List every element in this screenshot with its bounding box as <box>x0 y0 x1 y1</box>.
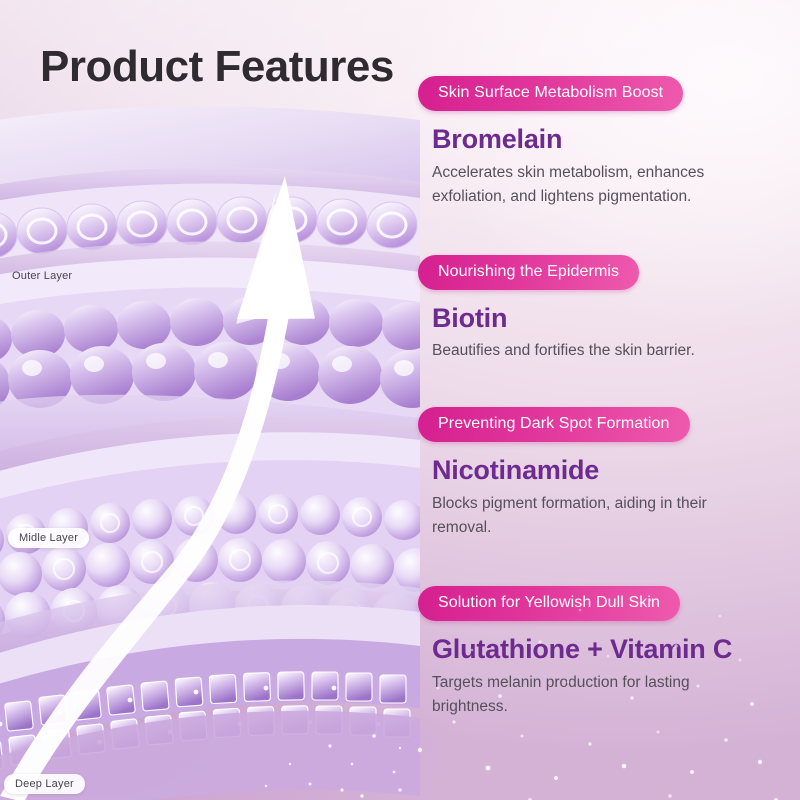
feature-item: Nourishing the Epidermis Biotin Beautifi… <box>418 255 782 364</box>
feature-badge: Skin Surface Metabolism Boost <box>418 76 683 111</box>
feature-description: Beautifies and fortifies the skin barrie… <box>432 339 750 363</box>
feature-badge: Solution for Yellowish Dull Skin <box>418 586 680 621</box>
feature-ingredient-name: Bromelain <box>432 125 782 155</box>
feature-description: Accelerates skin metabolism, enhances ex… <box>432 161 750 209</box>
feature-description: Targets melanin production for lasting b… <box>432 671 750 719</box>
skin-cross-section-illustration: Outer Layer Midle Layer Deep Layer <box>0 96 410 800</box>
feature-ingredient-name: Glutathione + Vitamin C <box>432 635 782 665</box>
product-features-poster: Product Features <box>0 0 800 800</box>
page-title: Product Features <box>40 44 394 90</box>
feature-badge: Nourishing the Epidermis <box>418 255 639 290</box>
feature-item: Skin Surface Metabolism Boost Bromelain … <box>418 76 782 209</box>
features-list: Skin Surface Metabolism Boost Bromelain … <box>418 76 782 719</box>
feature-item: Preventing Dark Spot Formation Nicotinam… <box>418 407 782 540</box>
layer-label-deep: Deep Layer <box>4 774 85 794</box>
skin-layers-svg <box>0 96 420 800</box>
layer-label-outer: Outer Layer <box>10 266 74 286</box>
layer-label-midle: Midle Layer <box>8 528 89 548</box>
feature-ingredient-name: Nicotinamide <box>432 456 782 486</box>
feature-description: Blocks pigment formation, aiding in thei… <box>432 492 750 540</box>
feature-ingredient-name: Biotin <box>432 304 782 334</box>
feature-item: Solution for Yellowish Dull Skin Glutath… <box>418 586 782 719</box>
feature-badge: Preventing Dark Spot Formation <box>418 407 690 442</box>
